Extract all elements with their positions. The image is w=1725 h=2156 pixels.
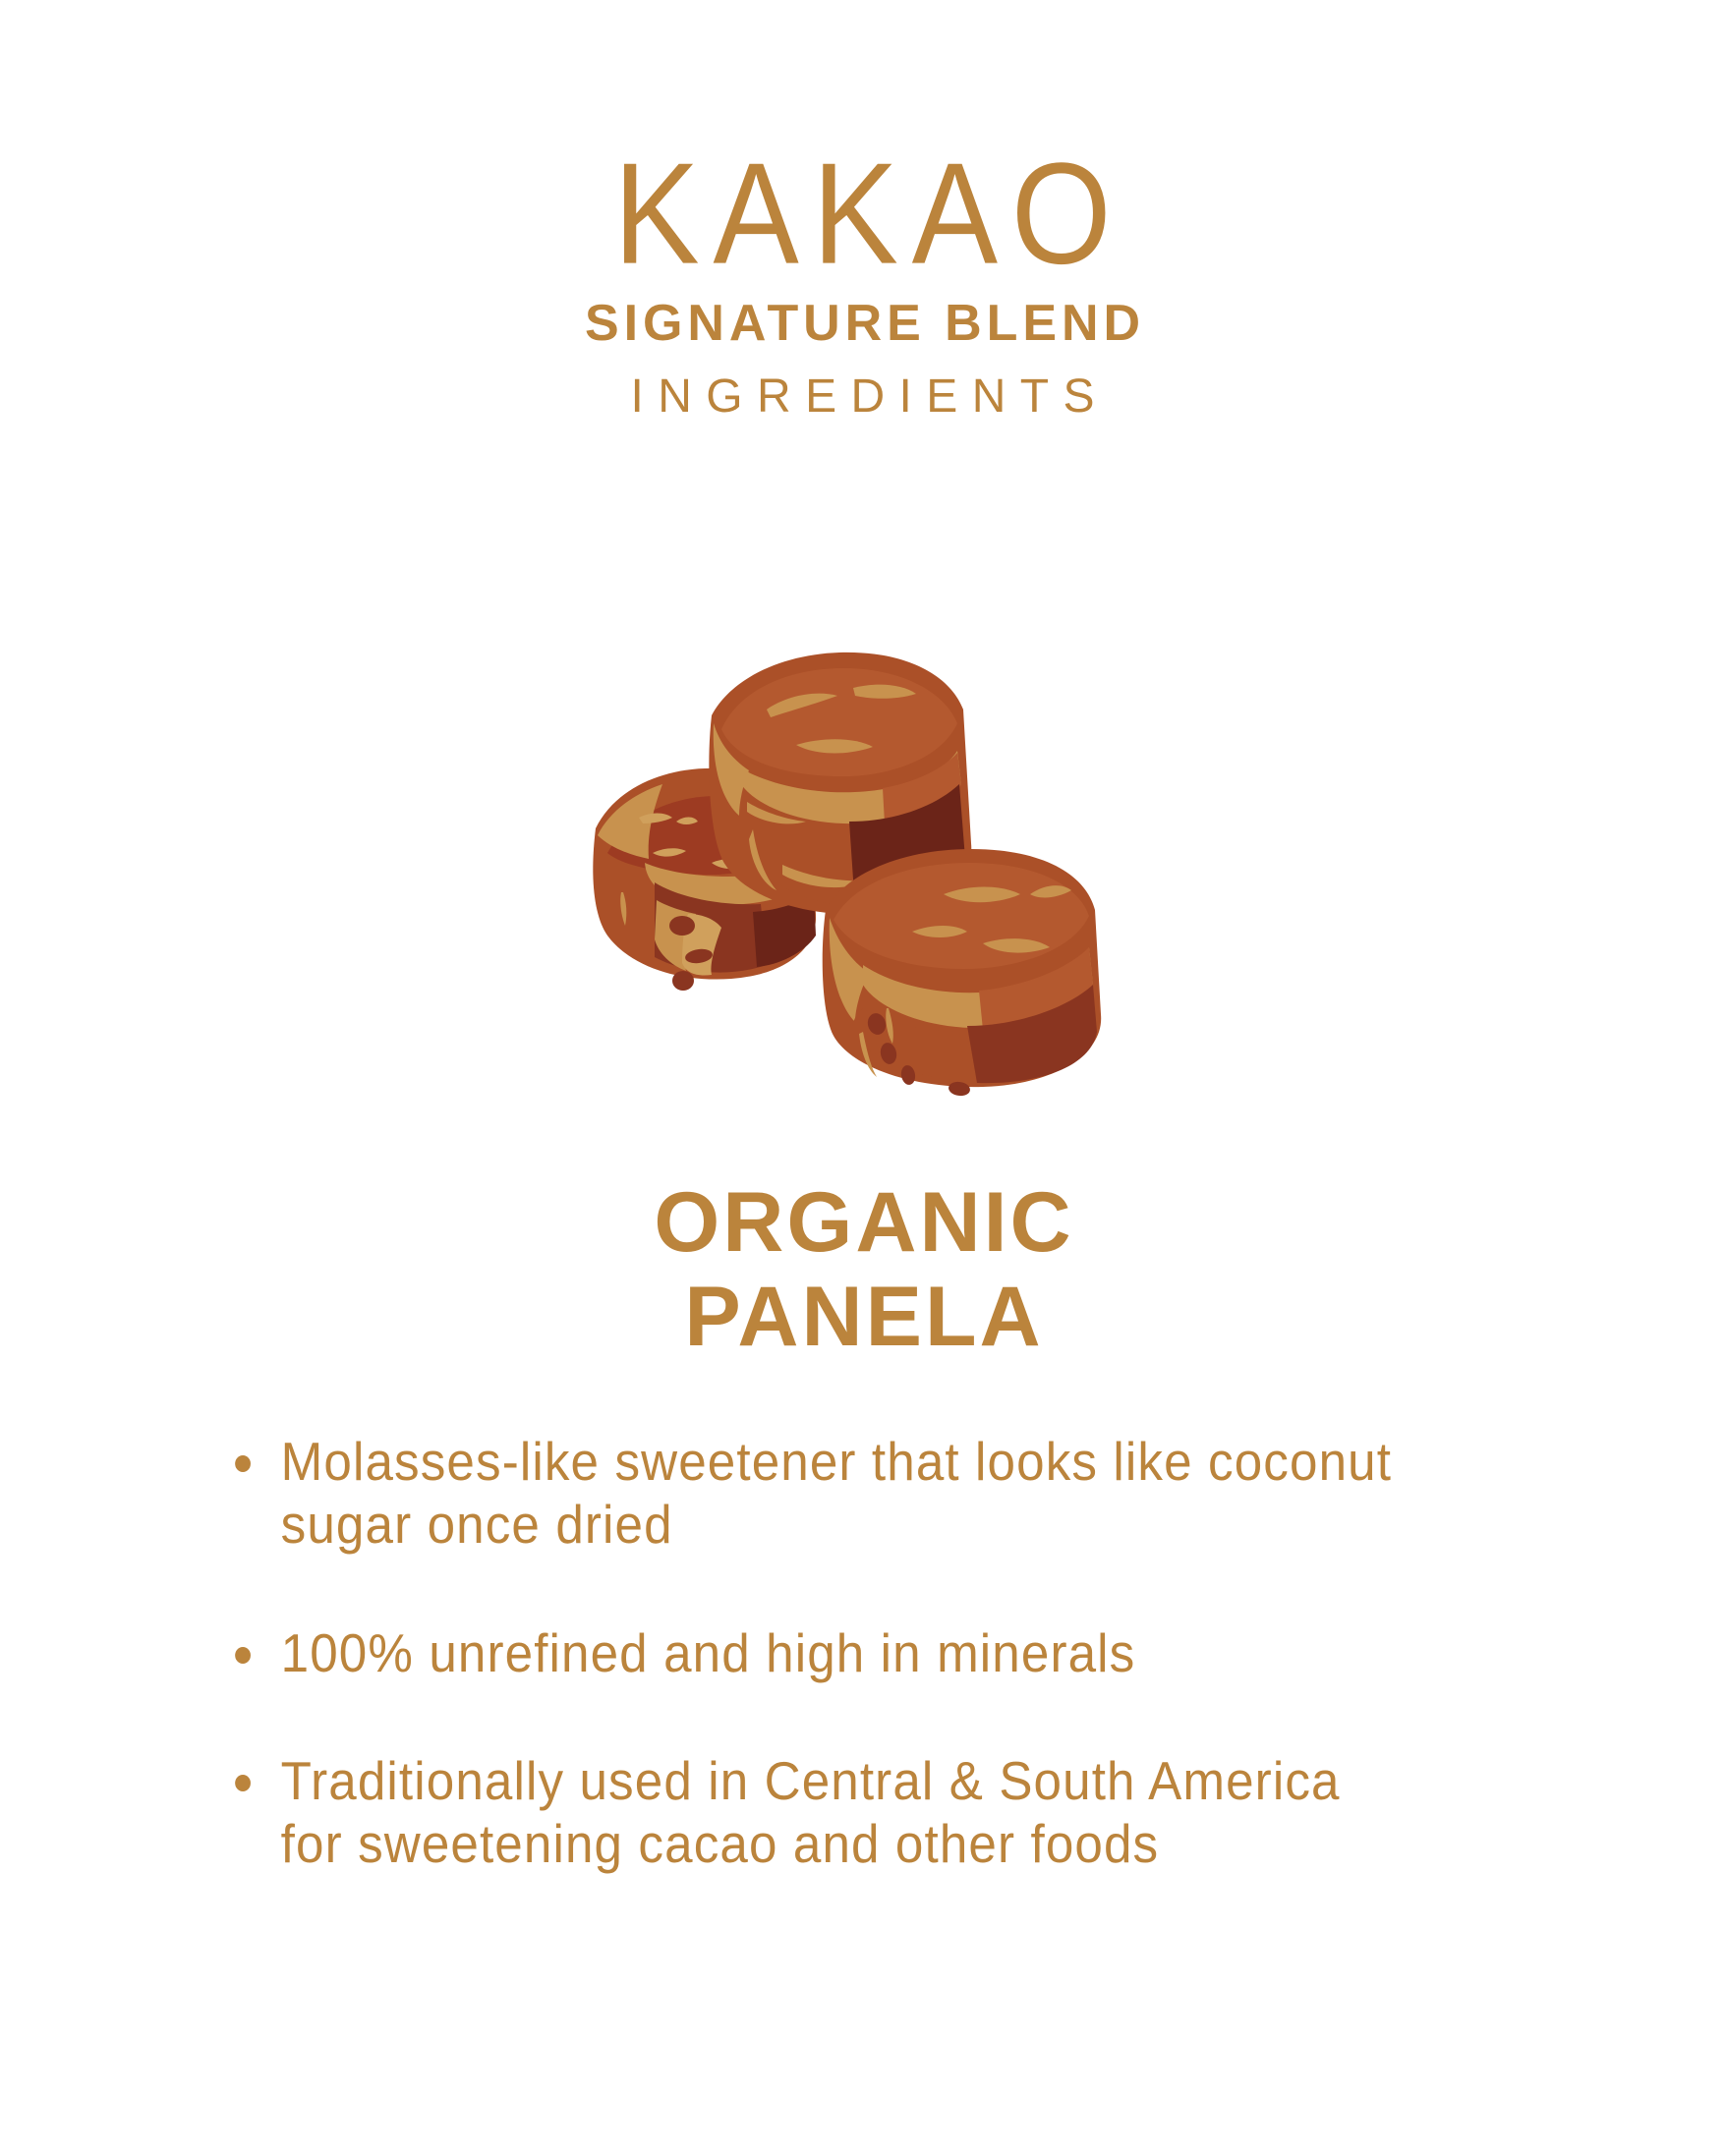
panela-block-right	[822, 849, 1100, 1097]
ingredient-card: KAKAO SIGNATURE BLEND INGREDIENTS	[0, 0, 1725, 2156]
list-item: Molasses-like sweetener that looks like …	[224, 1430, 1404, 1557]
brand-title: KAKAO	[0, 0, 1725, 285]
bullet-dot-icon	[235, 1775, 251, 1791]
panela-blocks-icon	[539, 619, 1187, 1110]
list-item-text: Traditionally used in Central & South Am…	[281, 1749, 1404, 1876]
illustration-container	[0, 609, 1725, 1120]
product-title-line-1: ORGANIC	[0, 1175, 1725, 1270]
product-title-line-2: PANELA	[0, 1270, 1725, 1364]
list-item-text: Molasses-like sweetener that looks like …	[281, 1430, 1404, 1557]
list-item: Traditionally used in Central & South Am…	[224, 1749, 1404, 1876]
list-item: 100% unrefined and high in minerals	[224, 1621, 1404, 1684]
card-header: KAKAO SIGNATURE BLEND INGREDIENTS	[0, 0, 1725, 421]
bullet-dot-icon	[235, 1455, 251, 1472]
product-title: ORGANIC PANELA	[0, 1175, 1725, 1365]
list-item-text: 100% unrefined and high in minerals	[281, 1621, 1404, 1684]
section-eyebrow-ingredients: INGREDIENTS	[0, 349, 1725, 421]
bullet-dot-icon	[235, 1647, 251, 1664]
ingredient-facts-list: Molasses-like sweetener that looks like …	[224, 1430, 1492, 1876]
